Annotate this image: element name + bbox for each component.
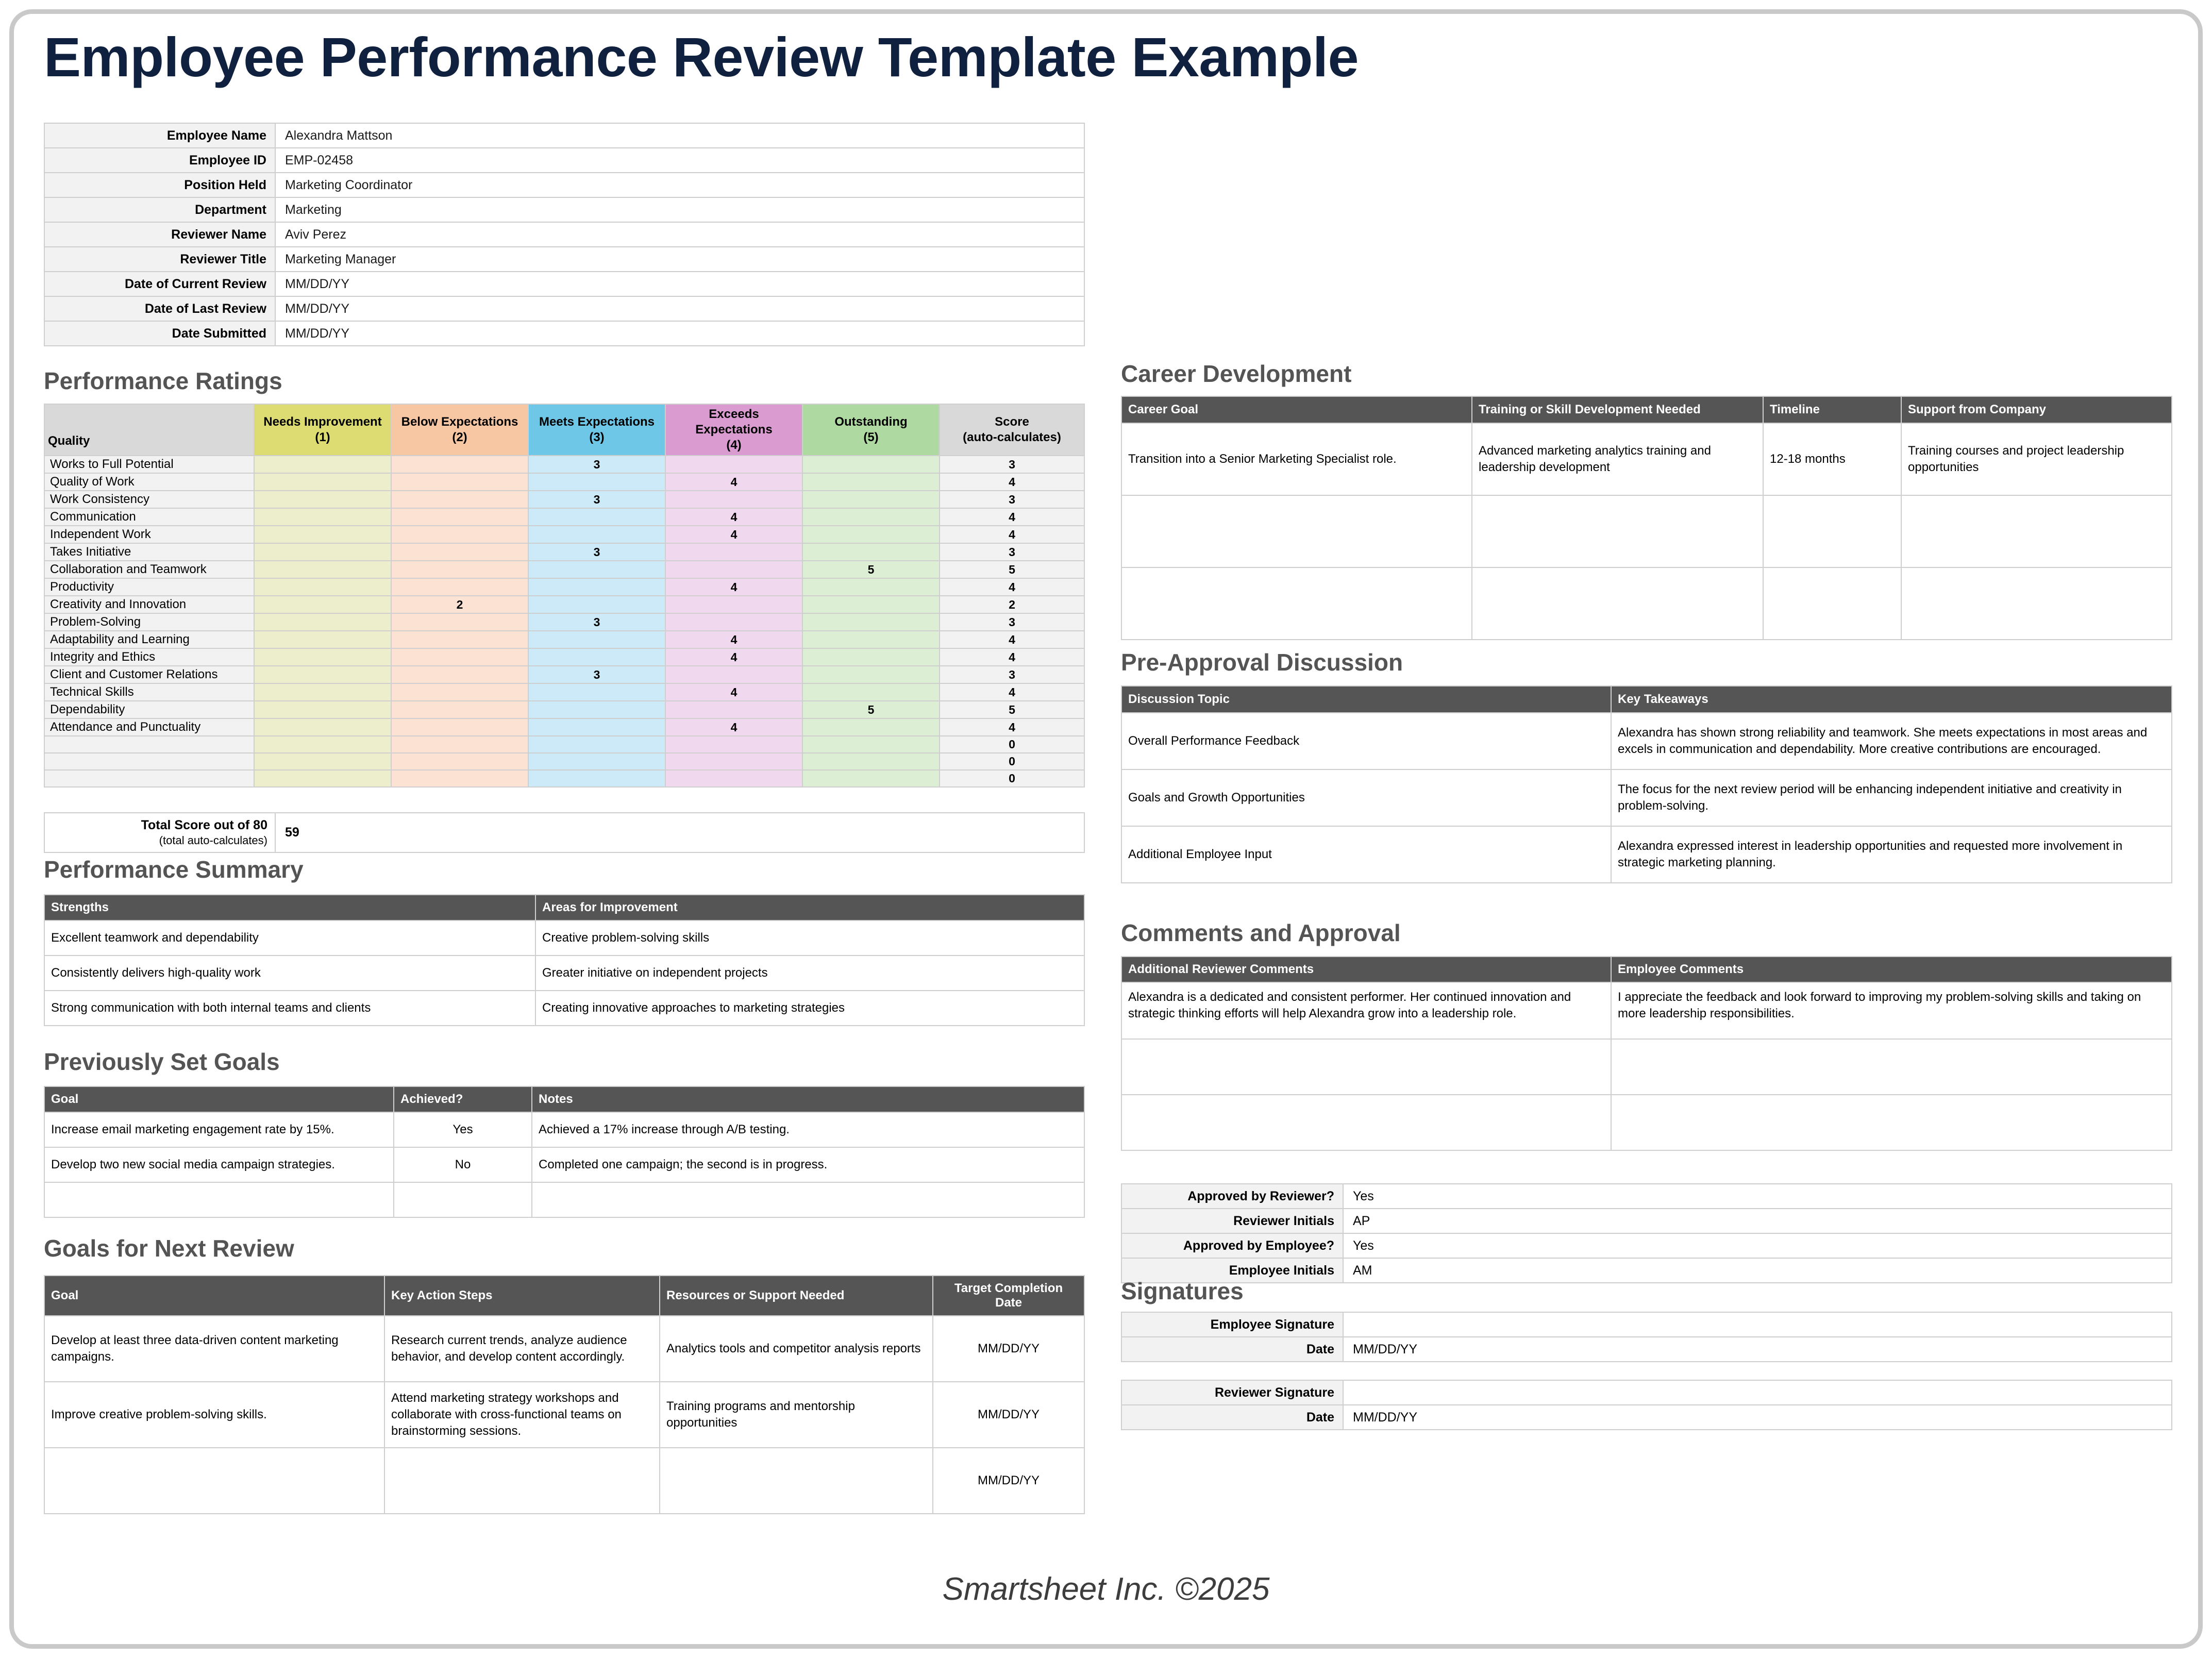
employee-info-value-2[interactable]: Marketing Coordinator [275, 173, 1084, 197]
summary-header-row: StrengthsAreas for Improvement [44, 895, 1084, 920]
career-row [1121, 495, 2172, 567]
rating-cell-5-2[interactable] [391, 543, 528, 561]
employee-info-label-8: Date Submitted [44, 321, 275, 346]
comments-employee-2[interactable] [1611, 1095, 2172, 1150]
footer-copyright: Smartsheet Inc. ©2025 [0, 1571, 2212, 1607]
approval-value-3[interactable]: AM [1343, 1258, 2172, 1283]
page-title: Employee Performance Review Template Exa… [44, 25, 1359, 89]
approval-table: Approved by Reviewer?YesReviewer Initial… [1121, 1183, 2172, 1283]
rating-cell-3-4[interactable]: 4 [665, 508, 802, 526]
employee-info-table: Employee NameAlexandra MattsonEmployee I… [44, 123, 1085, 346]
rating-cell-12-3[interactable]: 3 [528, 666, 665, 683]
career-row [1121, 567, 2172, 640]
rating-score-3: 4 [940, 508, 1084, 526]
col-notes: Notes [532, 1086, 1084, 1112]
rating-quality-14: Dependability [44, 701, 254, 718]
col-additional-reviewer-comments: Additional Reviewer Comments [1121, 957, 1611, 982]
approval-value-1[interactable]: AP [1343, 1209, 2172, 1233]
rating-cell-9-3[interactable]: 3 [528, 613, 665, 631]
ratings-row: 0 [44, 736, 1084, 753]
career-support-2[interactable] [1901, 567, 2172, 640]
ratings-row: Attendance and Punctuality44 [44, 718, 1084, 736]
rating-cell-8-1[interactable] [254, 596, 391, 613]
employee-info-label-1: Employee ID [44, 148, 275, 173]
col-outstanding-num: (5) [863, 430, 878, 444]
comments-reviewer-0[interactable]: Alexandra is a dedicated and consistent … [1121, 982, 1611, 1039]
ratings-row: Productivity44 [44, 578, 1084, 596]
approval-row: Approved by Reviewer?Yes [1121, 1184, 2172, 1209]
rating-cell-13-1[interactable] [254, 683, 391, 701]
career-goal-2[interactable] [1121, 567, 1472, 640]
rating-cell-14-3[interactable] [528, 701, 665, 718]
prevgoal-achieved-1[interactable]: No [394, 1147, 532, 1182]
career-header-row: Career GoalTraining or Skill Development… [1121, 396, 2172, 423]
rating-cell-10-3[interactable] [528, 631, 665, 648]
col-score: Score (auto-calculates) [940, 404, 1084, 456]
ratings-row: Quality of Work44 [44, 473, 1084, 491]
ratings-row: Problem-Solving33 [44, 613, 1084, 631]
rating-cell-4-1[interactable] [254, 526, 391, 543]
previously-set-goals-table: GoalAchieved?Notes Increase email market… [44, 1086, 1085, 1218]
employee-info-value-7[interactable]: MM/DD/YY [275, 296, 1084, 321]
prevgoal-goal-2[interactable] [44, 1182, 394, 1217]
prevgoals-header-row: GoalAchieved?Notes [44, 1086, 1084, 1112]
rating-cell-16-5[interactable] [802, 736, 940, 753]
rating-cell-15-2[interactable] [391, 718, 528, 736]
ratings-row: Client and Customer Relations33 [44, 666, 1084, 683]
rating-score-8: 2 [940, 596, 1084, 613]
comments-employee-1[interactable] [1611, 1039, 2172, 1095]
rating-score-12: 3 [940, 666, 1084, 683]
employee-info-label-0: Employee Name [44, 123, 275, 148]
rating-cell-16-1[interactable] [254, 736, 391, 753]
nextgoal-steps-0[interactable]: Research current trends, analyze audienc… [384, 1316, 660, 1382]
prevgoal-notes-2[interactable] [532, 1182, 1084, 1217]
rating-score-4: 4 [940, 526, 1084, 543]
summary-area-0[interactable]: Creative problem-solving skills [535, 920, 1084, 956]
rating-cell-2-4[interactable] [665, 491, 802, 508]
rating-cell-14-5[interactable]: 5 [802, 701, 940, 718]
ratings-row: Takes Initiative33 [44, 543, 1084, 561]
col-quality: Quality [44, 404, 254, 456]
rating-cell-9-2[interactable] [391, 613, 528, 631]
nextgoals-header-row: Goal Key Action Steps Resources or Suppo… [44, 1276, 1084, 1316]
rating-cell-0-5[interactable] [802, 456, 940, 473]
rating-quality-5: Takes Initiative [44, 543, 254, 561]
rating-score-0: 3 [940, 456, 1084, 473]
rating-cell-17-2[interactable] [391, 753, 528, 770]
rating-score-15: 4 [940, 718, 1084, 736]
rating-score-18: 0 [940, 770, 1084, 787]
preapp-topic-2[interactable]: Additional Employee Input [1121, 826, 1611, 883]
comments-employee-0[interactable]: I appreciate the feedback and look forwa… [1611, 982, 2172, 1039]
rating-cell-11-3[interactable] [528, 648, 665, 666]
career-goal-1[interactable] [1121, 495, 1472, 567]
col-areas-for-improvement: Areas for Improvement [535, 895, 1084, 920]
rating-score-5: 3 [940, 543, 1084, 561]
rating-cell-12-4[interactable] [665, 666, 802, 683]
total-score-label-sub: (total auto-calculates) [52, 833, 267, 848]
rating-score-10: 4 [940, 631, 1084, 648]
section-heading-previously-set-goals: Previously Set Goals [44, 1048, 280, 1076]
rating-cell-15-3[interactable] [528, 718, 665, 736]
col-goal: Goal [44, 1086, 394, 1112]
summary-area-1[interactable]: Greater initiative on independent projec… [535, 956, 1084, 991]
employee-info-value-5[interactable]: Marketing Manager [275, 247, 1084, 272]
prevgoal-goal-0[interactable]: Increase email marketing engagement rate… [44, 1112, 394, 1147]
rating-cell-8-5[interactable] [802, 596, 940, 613]
rating-cell-11-5[interactable] [802, 648, 940, 666]
summary-strength-2[interactable]: Strong communication with both internal … [44, 991, 535, 1026]
nextgoal-resources-1[interactable]: Training programs and mentorship opportu… [660, 1382, 933, 1448]
comments-row [1121, 1039, 2172, 1095]
employee-info-row: Employee NameAlexandra Mattson [44, 123, 1084, 148]
rating-cell-2-2[interactable] [391, 491, 528, 508]
rating-cell-13-2[interactable] [391, 683, 528, 701]
employee-info-row: Reviewer NameAviv Perez [44, 222, 1084, 247]
approval-row: Reviewer InitialsAP [1121, 1209, 2172, 1233]
rating-cell-4-3[interactable] [528, 526, 665, 543]
rating-cell-9-5[interactable] [802, 613, 940, 631]
nextgoal-date-0[interactable]: MM/DD/YY [933, 1316, 1084, 1382]
approval-value-2[interactable]: Yes [1343, 1233, 2172, 1258]
col-key-takeaways: Key Takeaways [1611, 686, 2172, 713]
preapp-topic-1[interactable]: Goals and Growth Opportunities [1121, 769, 1611, 826]
rating-cell-1-2[interactable] [391, 473, 528, 491]
rating-quality-2: Work Consistency [44, 491, 254, 508]
rating-cell-17-5[interactable] [802, 753, 940, 770]
nextgoal-date-1[interactable]: MM/DD/YY [933, 1382, 1084, 1448]
employee-info-value-3[interactable]: Marketing [275, 197, 1084, 222]
rating-cell-7-5[interactable] [802, 578, 940, 596]
employee-signature-label-1: Date [1121, 1337, 1343, 1362]
employee-info-value-4[interactable]: Aviv Perez [275, 222, 1084, 247]
rating-cell-14-1[interactable] [254, 701, 391, 718]
nextgoals-row: Improve creative problem-solving skills.… [44, 1382, 1084, 1448]
col-below-expectations: Below Expectations (2) [391, 404, 528, 456]
rating-score-14: 5 [940, 701, 1084, 718]
preapp-row: Additional Employee InputAlexandra expre… [1121, 826, 2172, 883]
rating-cell-2-5[interactable] [802, 491, 940, 508]
reviewer-signature-value-0[interactable] [1343, 1380, 2172, 1405]
rating-cell-5-5[interactable] [802, 543, 940, 561]
rating-quality-4: Independent Work [44, 526, 254, 543]
rating-cell-5-1[interactable] [254, 543, 391, 561]
nextgoal-goal-1[interactable]: Improve creative problem-solving skills. [44, 1382, 384, 1448]
rating-cell-8-3[interactable] [528, 596, 665, 613]
employee-info-value-0[interactable]: Alexandra Mattson [275, 123, 1084, 148]
rating-cell-3-3[interactable] [528, 508, 665, 526]
rating-cell-7-3[interactable] [528, 578, 665, 596]
rating-cell-8-2[interactable]: 2 [391, 596, 528, 613]
col-meets-expectations-num: (3) [589, 430, 604, 444]
ratings-row: Communication44 [44, 508, 1084, 526]
comments-row: Alexandra is a dedicated and consistent … [1121, 982, 2172, 1039]
rating-cell-13-3[interactable] [528, 683, 665, 701]
pre-approval-discussion-table: Discussion TopicKey Takeaways Overall Pe… [1121, 685, 2172, 883]
employee-signature-value-1[interactable]: MM/DD/YY [1343, 1337, 2172, 1362]
nextgoal-goal-2[interactable] [44, 1448, 384, 1514]
rating-cell-11-1[interactable] [254, 648, 391, 666]
employee-signature-row: Employee Signature [1121, 1312, 2172, 1337]
nextgoals-row: MM/DD/YY [44, 1448, 1084, 1514]
rating-cell-10-4[interactable]: 4 [665, 631, 802, 648]
col-discussion-topic: Discussion Topic [1121, 686, 1611, 713]
nextgoal-steps-2[interactable] [384, 1448, 660, 1514]
rating-cell-17-1[interactable] [254, 753, 391, 770]
employee-signature-label-0: Employee Signature [1121, 1312, 1343, 1337]
rating-cell-1-3[interactable] [528, 473, 665, 491]
summary-strength-1[interactable]: Consistently delivers high-quality work [44, 956, 535, 991]
goals-for-next-review-table: Goal Key Action Steps Resources or Suppo… [44, 1275, 1085, 1514]
rating-cell-17-4[interactable] [665, 753, 802, 770]
rating-cell-3-5[interactable] [802, 508, 940, 526]
rating-cell-11-4[interactable]: 4 [665, 648, 802, 666]
employee-signature-row: DateMM/DD/YY [1121, 1337, 2172, 1362]
rating-cell-7-1[interactable] [254, 578, 391, 596]
career-support-0[interactable]: Training courses and project leadership … [1901, 423, 2172, 495]
col-exceeds-expectations: Exceeds Expectations (4) [665, 404, 802, 456]
rating-cell-0-4[interactable] [665, 456, 802, 473]
rating-cell-7-4[interactable]: 4 [665, 578, 802, 596]
preapp-takeaway-2[interactable]: Alexandra expressed interest in leadersh… [1611, 826, 2172, 883]
col-exceeds-expectations-num: (4) [726, 438, 741, 452]
rating-quality-11: Integrity and Ethics [44, 648, 254, 666]
nextgoal-date-2[interactable]: MM/DD/YY [933, 1448, 1084, 1514]
career-timeline-2[interactable] [1763, 567, 1901, 640]
rating-score-6: 5 [940, 561, 1084, 578]
rating-cell-13-5[interactable] [802, 683, 940, 701]
rating-cell-5-3[interactable]: 3 [528, 543, 665, 561]
preapp-row: Goals and Growth OpportunitiesThe focus … [1121, 769, 2172, 826]
rating-cell-9-1[interactable] [254, 613, 391, 631]
preapp-header-row: Discussion TopicKey Takeaways [1121, 686, 2172, 713]
employee-info-label-3: Department [44, 197, 275, 222]
performance-ratings-table: Quality Needs Improvement (1) Below Expe… [44, 404, 1085, 788]
rating-cell-0-2[interactable] [391, 456, 528, 473]
career-timeline-0[interactable]: 12-18 months [1763, 423, 1901, 495]
employee-info-label-2: Position Held [44, 173, 275, 197]
comments-reviewer-2[interactable] [1121, 1095, 1611, 1150]
rating-cell-0-3[interactable]: 3 [528, 456, 665, 473]
employee-info-value-6[interactable]: MM/DD/YY [275, 272, 1084, 296]
ratings-row: Adaptability and Learning44 [44, 631, 1084, 648]
rating-cell-6-2[interactable] [391, 561, 528, 578]
rating-cell-12-5[interactable] [802, 666, 940, 683]
rating-cell-18-2[interactable] [391, 770, 528, 787]
total-score-row: Total Score out of 80 (total auto-calcul… [44, 813, 1084, 852]
career-training-2[interactable] [1472, 567, 1763, 640]
employee-info-row: Reviewer TitleMarketing Manager [44, 247, 1084, 272]
rating-cell-14-2[interactable] [391, 701, 528, 718]
rating-cell-16-2[interactable] [391, 736, 528, 753]
nextgoal-resources-2[interactable] [660, 1448, 933, 1514]
col-outstanding: Outstanding (5) [802, 404, 940, 456]
document-page: Employee Performance Review Template Exa… [0, 0, 2212, 1658]
rating-quality-10: Adaptability and Learning [44, 631, 254, 648]
nextgoal-steps-1[interactable]: Attend marketing strategy workshops and … [384, 1382, 660, 1448]
employee-info-label-6: Date of Current Review [44, 272, 275, 296]
summary-area-2[interactable]: Creating innovative approaches to market… [535, 991, 1084, 1026]
col-training-needed: Training or Skill Development Needed [1472, 396, 1763, 423]
rating-quality-12: Client and Customer Relations [44, 666, 254, 683]
reviewer-signature-value-1[interactable]: MM/DD/YY [1343, 1405, 2172, 1430]
col-employee-comments: Employee Comments [1611, 957, 2172, 982]
career-timeline-1[interactable] [1763, 495, 1901, 567]
rating-cell-1-5[interactable] [802, 473, 940, 491]
rating-score-7: 4 [940, 578, 1084, 596]
employee-info-value-8[interactable]: MM/DD/YY [275, 321, 1084, 346]
rating-cell-16-4[interactable] [665, 736, 802, 753]
rating-cell-12-2[interactable] [391, 666, 528, 683]
summary-strength-0[interactable]: Excellent teamwork and dependability [44, 920, 535, 956]
rating-quality-1: Quality of Work [44, 473, 254, 491]
rating-cell-2-1[interactable] [254, 491, 391, 508]
employee-info-label-4: Reviewer Name [44, 222, 275, 247]
prevgoal-achieved-0[interactable]: Yes [394, 1112, 532, 1147]
prevgoal-achieved-2[interactable] [394, 1182, 532, 1217]
rating-cell-4-4[interactable]: 4 [665, 526, 802, 543]
approval-value-0[interactable]: Yes [1343, 1184, 2172, 1209]
rating-cell-13-4[interactable]: 4 [665, 683, 802, 701]
career-development-table: Career GoalTraining or Skill Development… [1121, 396, 2172, 640]
career-training-0[interactable]: Advanced marketing analytics training an… [1472, 423, 1763, 495]
rating-quality-17 [44, 753, 254, 770]
rating-cell-3-2[interactable] [391, 508, 528, 526]
rating-cell-1-1[interactable] [254, 473, 391, 491]
rating-cell-15-5[interactable] [802, 718, 940, 736]
rating-quality-18 [44, 770, 254, 787]
reviewer-signature-label-0: Reviewer Signature [1121, 1380, 1343, 1405]
rating-cell-11-2[interactable] [391, 648, 528, 666]
rating-cell-3-1[interactable] [254, 508, 391, 526]
employee-info-label-5: Reviewer Title [44, 247, 275, 272]
employee-signature-table: Employee SignatureDateMM/DD/YY [1121, 1312, 2172, 1362]
approval-label-1: Reviewer Initials [1121, 1209, 1343, 1233]
comments-row [1121, 1095, 2172, 1150]
rating-cell-15-4[interactable]: 4 [665, 718, 802, 736]
prevgoal-notes-1[interactable]: Completed one campaign; the second is in… [532, 1147, 1084, 1182]
rating-cell-1-4[interactable]: 4 [665, 473, 802, 491]
col-target-completion-date: Target Completion Date [933, 1276, 1084, 1316]
col-timeline: Timeline [1763, 396, 1901, 423]
nextgoal-resources-0[interactable]: Analytics tools and competitor analysis … [660, 1316, 933, 1382]
col-meets-expectations-label: Meets Expectations [539, 415, 655, 429]
employee-signature-value-0[interactable] [1343, 1312, 2172, 1337]
section-heading-goals-for-next-review: Goals for Next Review [44, 1234, 294, 1262]
total-score-label: Total Score out of 80 (total auto-calcul… [44, 813, 275, 852]
rating-quality-16 [44, 736, 254, 753]
rating-cell-10-2[interactable] [391, 631, 528, 648]
section-heading-performance-ratings: Performance Ratings [44, 367, 282, 395]
rating-cell-14-4[interactable] [665, 701, 802, 718]
section-heading-signatures: Signatures [1121, 1277, 1244, 1305]
ratings-row: Technical Skills44 [44, 683, 1084, 701]
nextgoal-goal-0[interactable]: Develop at least three data-driven conte… [44, 1316, 384, 1382]
rating-cell-17-3[interactable] [528, 753, 665, 770]
employee-info-label-7: Date of Last Review [44, 296, 275, 321]
rating-cell-6-3[interactable] [528, 561, 665, 578]
rating-cell-15-1[interactable] [254, 718, 391, 736]
employee-info-row: Date of Current ReviewMM/DD/YY [44, 272, 1084, 296]
ratings-row: Integrity and Ethics44 [44, 648, 1084, 666]
employee-info-value-1[interactable]: EMP-02458 [275, 148, 1084, 173]
prevgoals-row: Develop two new social media campaign st… [44, 1147, 1084, 1182]
rating-cell-4-5[interactable] [802, 526, 940, 543]
preapp-topic-0[interactable]: Overall Performance Feedback [1121, 713, 1611, 769]
section-heading-comments-and-approval: Comments and Approval [1121, 919, 1401, 947]
approval-row: Employee InitialsAM [1121, 1258, 2172, 1283]
career-training-1[interactable] [1472, 495, 1763, 567]
prevgoal-notes-0[interactable]: Achieved a 17% increase through A/B test… [532, 1112, 1084, 1147]
rating-cell-18-5[interactable] [802, 770, 940, 787]
comments-and-approval-table: Additional Reviewer CommentsEmployee Com… [1121, 956, 2172, 1151]
rating-cell-6-4[interactable] [665, 561, 802, 578]
summary-row: Strong communication with both internal … [44, 991, 1084, 1026]
ratings-row: 0 [44, 753, 1084, 770]
rating-cell-9-4[interactable] [665, 613, 802, 631]
rating-cell-10-5[interactable] [802, 631, 940, 648]
ratings-row: Creativity and Innovation22 [44, 596, 1084, 613]
rating-cell-0-1[interactable] [254, 456, 391, 473]
ratings-row: Dependability55 [44, 701, 1084, 718]
prevgoal-goal-1[interactable]: Develop two new social media campaign st… [44, 1147, 394, 1182]
rating-cell-16-3[interactable] [528, 736, 665, 753]
nextgoals-row: Develop at least three data-driven conte… [44, 1316, 1084, 1382]
preapp-takeaway-0[interactable]: Alexandra has shown strong reliability a… [1611, 713, 2172, 769]
ratings-row: Collaboration and Teamwork55 [44, 561, 1084, 578]
rating-quality-7: Productivity [44, 578, 254, 596]
reviewer-signature-label-1: Date [1121, 1405, 1343, 1430]
employee-info-row: Employee IDEMP-02458 [44, 148, 1084, 173]
approval-label-0: Approved by Reviewer? [1121, 1184, 1343, 1209]
approval-row: Approved by Employee?Yes [1121, 1233, 2172, 1258]
rating-cell-6-5[interactable]: 5 [802, 561, 940, 578]
reviewer-signature-table: Reviewer SignatureDateMM/DD/YY [1121, 1380, 2172, 1430]
col-key-action-steps: Key Action Steps [384, 1276, 660, 1316]
rating-quality-9: Problem-Solving [44, 613, 254, 631]
summary-row: Consistently delivers high-quality workG… [44, 956, 1084, 991]
col-resources-support: Resources or Support Needed [660, 1276, 933, 1316]
preapp-takeaway-1[interactable]: The focus for the next review period wil… [1611, 769, 2172, 826]
career-support-1[interactable] [1901, 495, 2172, 567]
reviewer-signature-row: DateMM/DD/YY [1121, 1405, 2172, 1430]
comments-reviewer-1[interactable] [1121, 1039, 1611, 1095]
rating-cell-7-2[interactable] [391, 578, 528, 596]
career-goal-0[interactable]: Transition into a Senior Marketing Speci… [1121, 423, 1472, 495]
prevgoals-row [44, 1182, 1084, 1217]
col-needs-improvement-num: (1) [315, 430, 330, 444]
col-strengths: Strengths [44, 895, 535, 920]
rating-cell-5-4[interactable] [665, 543, 802, 561]
col-below-expectations-num: (2) [452, 430, 467, 444]
rating-score-17: 0 [940, 753, 1084, 770]
rating-cell-18-1[interactable] [254, 770, 391, 787]
rating-cell-4-2[interactable] [391, 526, 528, 543]
employee-info-row: Date of Last ReviewMM/DD/YY [44, 296, 1084, 321]
col-meets-expectations: Meets Expectations (3) [528, 404, 665, 456]
rating-cell-10-1[interactable] [254, 631, 391, 648]
rating-cell-6-1[interactable] [254, 561, 391, 578]
approval-label-2: Approved by Employee? [1121, 1233, 1343, 1258]
ratings-header-row: Quality Needs Improvement (1) Below Expe… [44, 404, 1084, 456]
col-needs-improvement: Needs Improvement (1) [254, 404, 391, 456]
rating-cell-8-4[interactable] [665, 596, 802, 613]
rating-cell-18-3[interactable] [528, 770, 665, 787]
rating-cell-12-1[interactable] [254, 666, 391, 683]
rating-cell-18-4[interactable] [665, 770, 802, 787]
rating-cell-2-3[interactable]: 3 [528, 491, 665, 508]
